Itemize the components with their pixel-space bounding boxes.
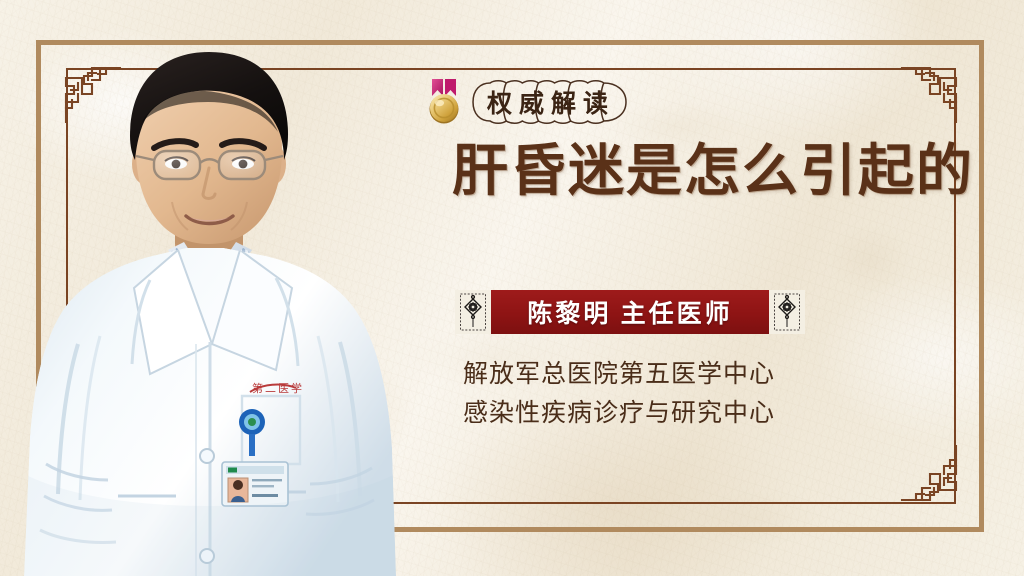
chinese-meander-corner-icon <box>898 442 960 504</box>
coat-logo-text: 第二医学 <box>250 381 304 395</box>
gold-medal-icon <box>424 78 464 126</box>
authority-badge-row: 权威解读 <box>424 76 629 128</box>
coat-button <box>200 449 214 463</box>
speaker-banner: 陈黎明 主任医师 <box>455 290 805 334</box>
affiliation-block: 解放军总医院第五医学中心 感染性疾病诊疗与研究中心 <box>463 355 883 433</box>
chinese-endless-knot-icon <box>769 290 805 334</box>
chinese-endless-knot-icon <box>455 290 491 334</box>
speaker-banner-bar: 陈黎明 主任医师 <box>491 290 769 334</box>
page-title: 肝昏迷是怎么引起的 <box>452 141 958 204</box>
title-card: 第二医学 <box>0 0 1024 576</box>
authority-label-bubble: 权威解读 <box>470 79 629 125</box>
doctor-portrait: 第二医学 <box>0 44 420 576</box>
svg-text:第二医学: 第二医学 <box>252 381 304 395</box>
authority-label: 权威解读 <box>484 84 615 120</box>
affiliation-line-1: 解放军总医院第五医学中心 <box>463 355 883 394</box>
staff-id-card <box>222 462 288 506</box>
speaker-name: 陈黎明 主任医师 <box>527 294 732 330</box>
affiliation-line-2: 感染性疾病诊疗与研究中心 <box>463 394 883 433</box>
chinese-meander-corner-icon <box>898 64 960 126</box>
